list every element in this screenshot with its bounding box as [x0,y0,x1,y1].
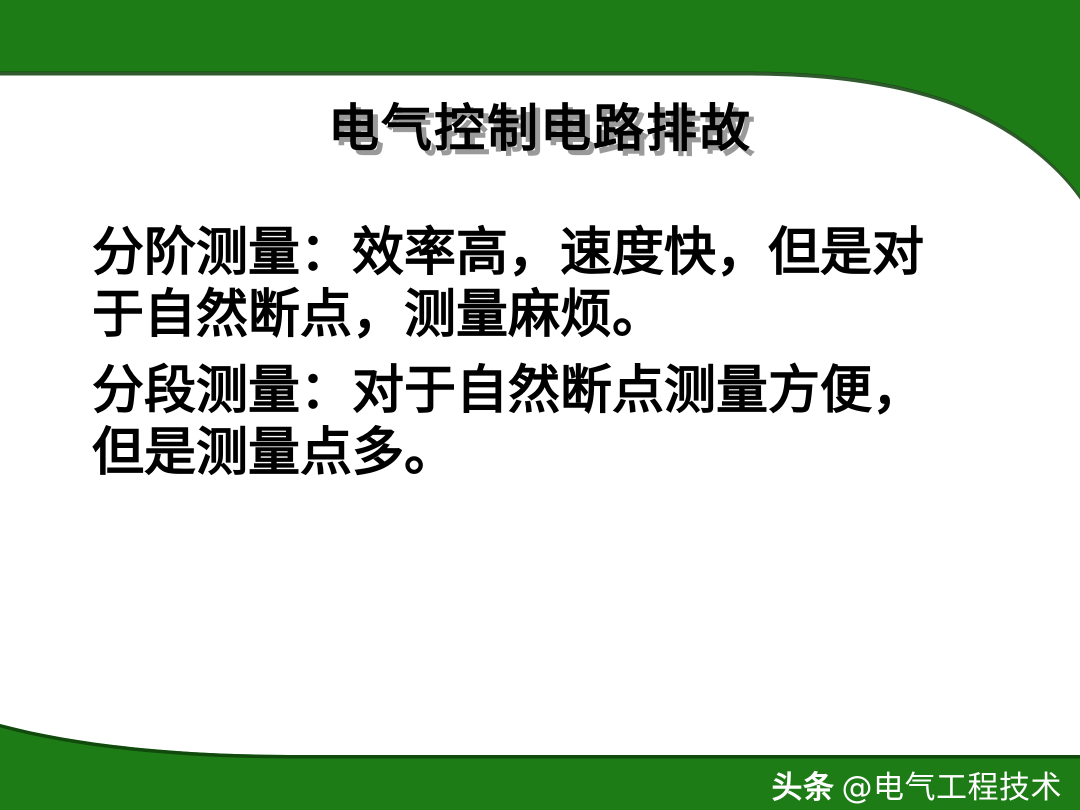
watermark-brand: 头条 [772,762,835,807]
footer-watermark: 头条 @电气工程技术 [772,762,1063,807]
body-line: 但是测量点多。 [92,422,982,484]
top-green-banner [0,0,1080,196]
presentation-slide: 电气控制电路排故 分阶测量：效率高，速度快，但是对 于自然断点，测量麻烦。 分段… [0,0,1080,810]
body-paragraph-1: 分阶测量：效率高，速度快，但是对 于自然断点，测量麻烦。 [92,222,982,346]
watermark-handle: @电气工程技术 [842,762,1063,807]
body-line: 分阶测量：效率高，速度快，但是对 [92,222,982,284]
body-line: 于自然断点，测量麻烦。 [92,284,982,346]
title-block: 电气控制电路排故 [0,103,1080,157]
body-line: 分段测量：对于自然断点测量方便， [92,360,982,422]
slide-body: 分阶测量：效率高，速度快，但是对 于自然断点，测量麻烦。 分段测量：对于自然断点… [92,222,982,484]
bottom-banner-rule [0,724,1080,759]
page-title: 电气控制电路排故 [328,103,752,157]
body-paragraph-2: 分段测量：对于自然断点测量方便， 但是测量点多。 [92,360,982,484]
paragraph-spacer [92,346,982,360]
